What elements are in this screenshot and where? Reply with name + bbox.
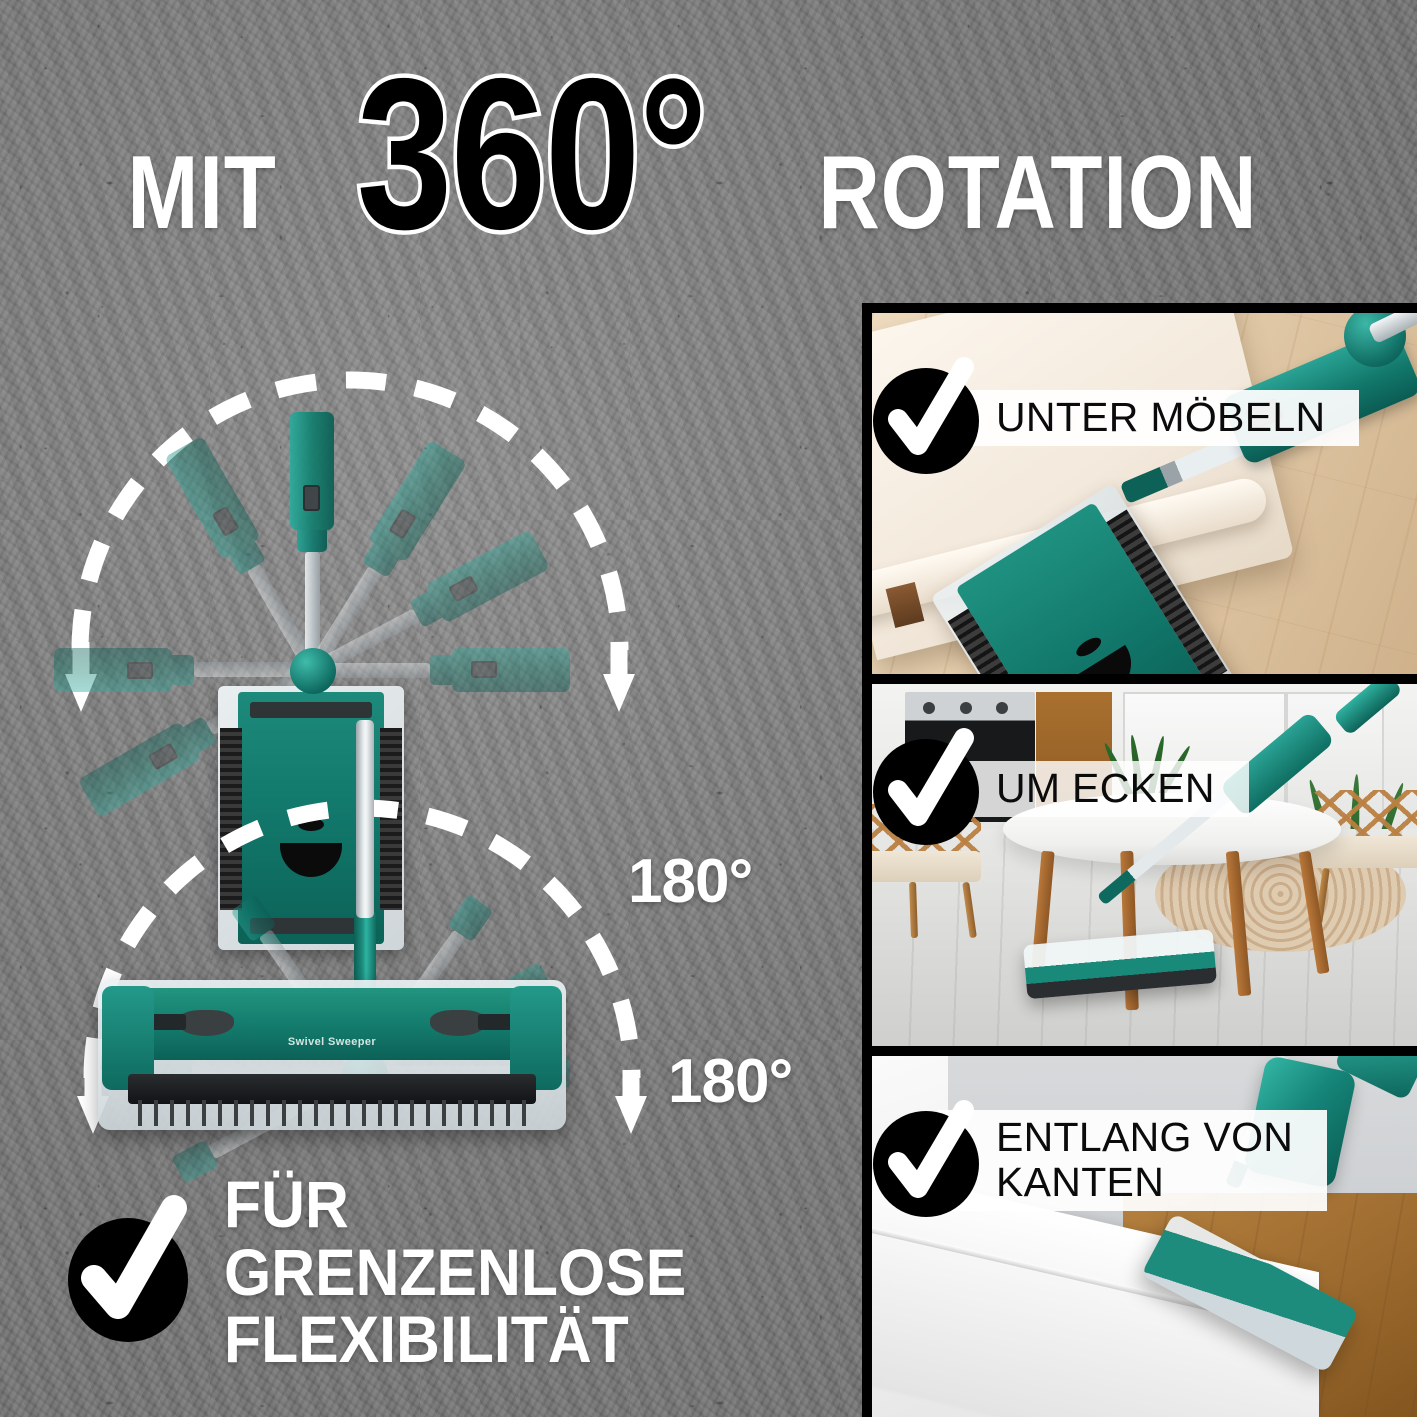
sweeper-bristles [138,1100,526,1126]
product-feature-graphic: MIT 360° ROTATION [0,0,1417,1417]
sweeper-head-front-view: Swivel Sweeper [98,980,566,1130]
sweeper-bar-top [250,702,372,718]
panel-label-text: UNTER MÖBELN [938,390,1359,446]
swivel-pivot-top [290,648,336,694]
chair-leg [962,882,977,938]
rotation-diagram-top-view: 180° [0,250,680,720]
rattan-chair-left [872,851,981,930]
oven-knob-3 [996,702,1008,714]
feature-photo-column: UNTER MÖBELN [862,303,1417,1417]
panel-label-um-ecken: UM ECKEN [872,730,1249,848]
chair-seat [872,851,981,883]
rattan-chair-right [1308,836,1417,915]
rotation-degrees-bottom: 180° [668,1046,792,1117]
panel-label-text: UM ECKEN [938,761,1249,817]
flexibility-caption: FÜR GRENZENLOSE FLEXIBILITÄT [66,1190,856,1355]
check-circle-icon [872,730,980,848]
ghost-arm-6 [312,655,570,685]
panel-unter-moebeln[interactable]: UNTER MÖBELN [872,313,1417,674]
panel-label-text: ENTLANG VON KANTEN [938,1110,1327,1211]
oven-knob-1 [923,702,935,714]
oven-knob-2 [960,702,972,714]
check-circle-icon [872,359,980,477]
caption-line-1: FÜR GRENZENLOSE [224,1171,805,1307]
chair-leg [909,882,918,938]
sweeper-vent [1073,635,1104,661]
panel-um-ecken[interactable]: UM ECKEN [872,684,1417,1045]
main-pole-metal [356,720,374,918]
sweeper-vent-left [178,1010,234,1036]
panel-entlang-von-kanten[interactable]: ENTLANG VON KANTEN [872,1056,1417,1417]
panel-label-unter-moebeln: UNTER MÖBELN [872,359,1359,477]
sweeper-front-face [124,988,540,1060]
panel-label-entlang-von-kanten: ENTLANG VON KANTEN [872,1102,1327,1220]
caption-line-2: FLEXIBILITÄT [224,1306,805,1374]
flexibility-caption-text: FÜR GRENZENLOSE FLEXIBILITÄT [224,1171,805,1375]
check-circle-icon [872,1102,980,1220]
sweeper-brand-logo: Swivel Sweeper [288,1036,376,1048]
check-circle-icon [66,1202,194,1344]
